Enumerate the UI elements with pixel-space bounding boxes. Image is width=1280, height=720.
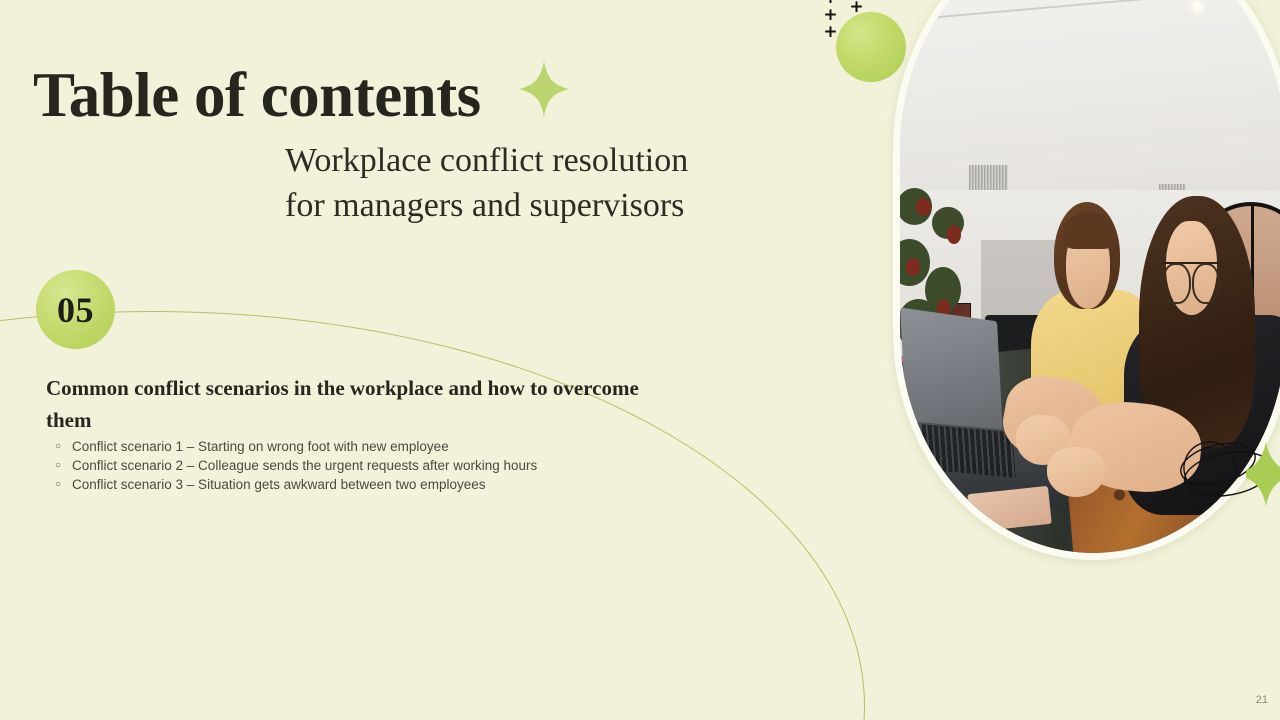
slide-canvas: + + + + + + bbox=[0, 0, 1280, 720]
list-item: ○ Conflict scenario 1 – Starting on wron… bbox=[52, 437, 752, 456]
list-item-label: Conflict scenario 2 – Colleague sends th… bbox=[72, 456, 537, 475]
page-number: 21 bbox=[1256, 694, 1268, 706]
list-item: ○ Conflict scenario 3 – Situation gets a… bbox=[52, 475, 752, 494]
photo-person-yellow-fringe bbox=[1064, 212, 1114, 250]
photo-laptop-keyboard bbox=[921, 424, 1015, 477]
green-circle-icon bbox=[836, 12, 906, 82]
list-item: ○ Conflict scenario 2 – Colleague sends … bbox=[52, 456, 752, 475]
page-subtitle: Workplace conflict resolution for manage… bbox=[285, 138, 688, 228]
photo-illustration bbox=[900, 0, 1280, 553]
list-item-label: Conflict scenario 1 – Starting on wrong … bbox=[72, 437, 449, 456]
bullet-circle-icon: ○ bbox=[52, 475, 72, 494]
section-heading: Common conflict scenarios in the workpla… bbox=[46, 373, 656, 437]
photo-person-black-glasses bbox=[1162, 262, 1220, 289]
page-title: Table of contents bbox=[33, 61, 481, 130]
section-number-badge: 05 bbox=[36, 270, 115, 349]
list-item-label: Conflict scenario 3 – Situation gets awk… bbox=[72, 475, 485, 494]
scenario-list: ○ Conflict scenario 1 – Starting on wron… bbox=[52, 437, 752, 494]
two-women-working-on-laptop-photo bbox=[893, 0, 1280, 560]
four-point-star-icon bbox=[519, 61, 569, 117]
section-number: 05 bbox=[57, 289, 94, 331]
bullet-circle-icon: ○ bbox=[52, 437, 72, 456]
photo-hand bbox=[1047, 447, 1105, 497]
bullet-circle-icon: ○ bbox=[52, 456, 72, 475]
